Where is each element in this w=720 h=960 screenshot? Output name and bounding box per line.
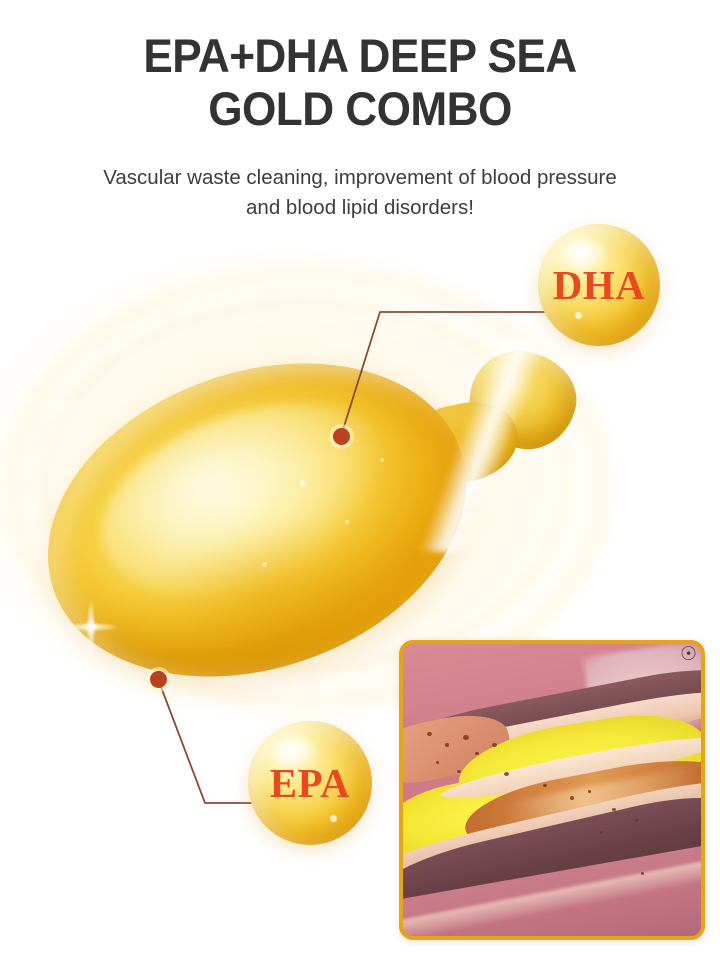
plaque-speck	[463, 735, 469, 740]
ingredient-label-epa: EPA	[270, 759, 350, 807]
ingredient-sphere-epa[interactable]: EPA	[248, 721, 372, 845]
plaque-speck	[436, 761, 439, 764]
panel-watermark-icon: ☉	[680, 645, 697, 664]
callout-dot-epa[interactable]	[150, 671, 167, 688]
plaque-speck	[570, 796, 574, 800]
page-title: EPA+DHA DEEP SEA GOLD COMBO	[22, 30, 699, 135]
plaque-speck	[600, 831, 603, 834]
plaque-speck	[612, 808, 616, 811]
header-block: EPA+DHA DEEP SEA GOLD COMBO	[0, 30, 720, 135]
sphere-gloss-dot	[575, 312, 582, 319]
plaque-speck	[427, 732, 432, 736]
product-poster: EPA+DHA DEEP SEA GOLD COMBO Vascular was…	[0, 0, 720, 960]
plaque-speck	[475, 752, 479, 755]
artery-cross-section-image	[403, 644, 701, 936]
plaque-speck	[588, 790, 591, 793]
callout-dot-dha[interactable]	[333, 428, 350, 445]
artery-plaque-panel[interactable]: ☉	[399, 640, 705, 940]
sphere-gloss-dot	[330, 815, 337, 822]
ingredient-sphere-dha[interactable]: DHA	[538, 224, 660, 346]
page-subtitle: Vascular waste cleaning, improvement of …	[90, 163, 630, 222]
ingredient-label-dha: DHA	[553, 261, 646, 309]
plaque-speck	[445, 743, 449, 747]
plaque-speck	[457, 770, 461, 773]
